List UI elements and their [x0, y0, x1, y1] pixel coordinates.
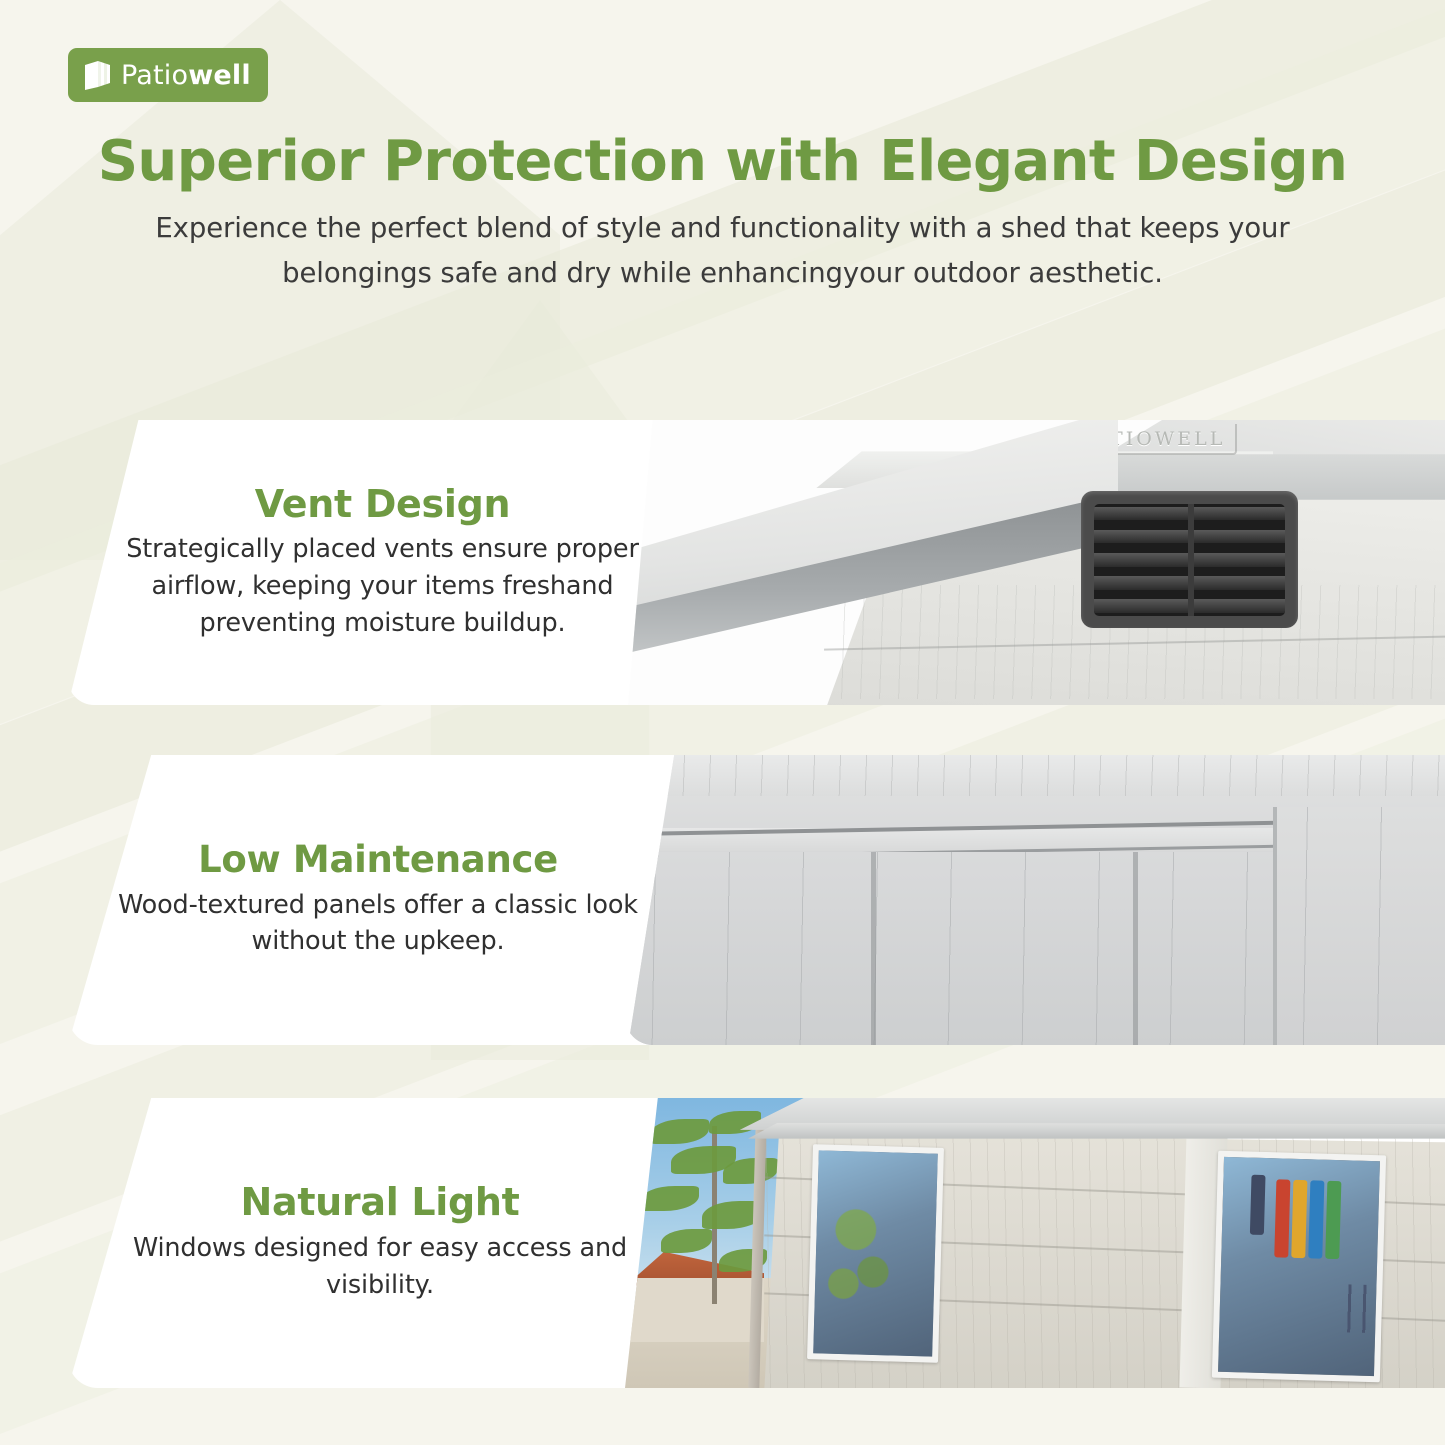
feature-card-low-maintenance: Low Maintenance Wood-textured panels off… [0, 755, 1445, 1045]
hanging-tool [1250, 1175, 1266, 1235]
page-headline: Superior Protection with Elegant Design [0, 132, 1445, 192]
feature-description: Strategically placed vents ensure proper… [100, 531, 665, 641]
adjacent-panel [1273, 807, 1445, 1045]
fence-reflection [1341, 1285, 1377, 1333]
brand-logo[interactable]: Patiowell [68, 48, 268, 102]
feature-card-natural-light: Natural Light Windows designed for easy … [0, 1098, 1445, 1388]
shed-eave [748, 1123, 1445, 1139]
louvered-vent [1081, 491, 1298, 628]
tree-foliage [709, 1111, 761, 1135]
panel-seam [1133, 852, 1138, 1045]
brand-logo-text: Patiowell [121, 62, 251, 89]
feature-title: Natural Light [240, 1182, 519, 1224]
vent-center-divider [1188, 504, 1195, 616]
rail-wood-grain [625, 755, 1445, 796]
stacked-panels-icon [82, 59, 112, 91]
feature-description: Windows designed for easy access and vis… [100, 1230, 660, 1303]
card-text-block: Natural Light Windows designed for easy … [100, 1098, 660, 1388]
vent-louvers [1094, 504, 1285, 616]
top-rail [625, 755, 1445, 796]
tree-foliage [661, 1229, 713, 1253]
shed-window-right [1212, 1151, 1386, 1382]
card-text-block: Vent Design Strategically placed vents e… [100, 420, 665, 705]
page-subheadline: Experience the perfect blend of style an… [105, 206, 1340, 295]
window-tree-reflection [823, 1175, 901, 1331]
feature-image-natural-light [625, 1098, 1445, 1388]
feature-card-vent-design: PATIOWELL Vent Design Strategically plac… [0, 420, 1445, 705]
card-text-block: Low Maintenance Wood-textured panels off… [88, 755, 668, 1045]
feature-image-vent-design: PATIOWELL [628, 420, 1445, 705]
feature-description: Wood-textured panels offer a classic loo… [88, 887, 668, 960]
panel-wood-grain [1277, 807, 1445, 1045]
shed-window-left [807, 1144, 944, 1363]
feature-image-low-maintenance [625, 755, 1445, 1045]
feature-title: Vent Design [255, 484, 510, 526]
feature-title: Low Maintenance [198, 840, 558, 881]
hanging-tool [1292, 1180, 1308, 1258]
panel-seam [871, 852, 876, 1045]
hanging-tool [1275, 1180, 1291, 1258]
